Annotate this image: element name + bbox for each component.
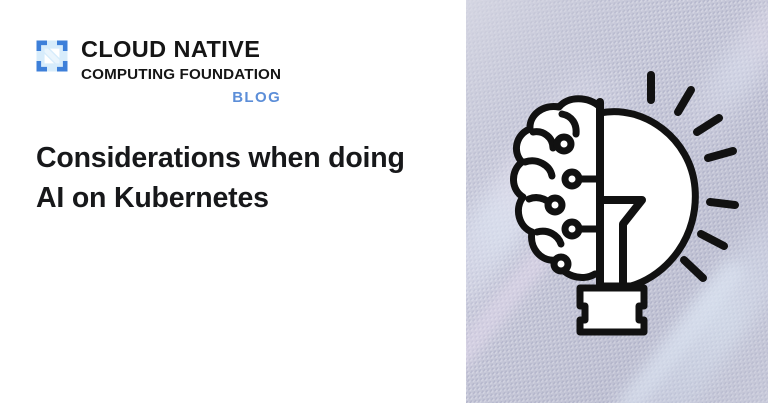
brand-line-computing-foundation: COMPUTING FOUNDATION xyxy=(81,67,281,82)
article-headline: Considerations when doing AI on Kubernet… xyxy=(36,138,436,219)
cncf-hexagon-mark-icon xyxy=(34,38,70,74)
brand-line-cloud-native: CLOUD NATIVE xyxy=(81,38,260,62)
cncf-blog-brand-lockup[interactable]: CLOUD NATIVE COMPUTING FOUNDATION BLOG xyxy=(34,38,281,105)
blog-label[interactable]: BLOG xyxy=(232,90,281,105)
hero-image-pane xyxy=(466,0,768,403)
blog-share-card: CLOUD NATIVE COMPUTING FOUNDATION BLOG C… xyxy=(0,0,768,403)
text-pane: CLOUD NATIVE COMPUTING FOUNDATION BLOG C… xyxy=(0,0,466,403)
brain-half xyxy=(513,98,600,277)
brand-wordmark: CLOUD NATIVE COMPUTING FOUNDATION BLOG xyxy=(81,38,281,105)
bulb-base xyxy=(580,288,644,332)
brain-lightbulb-icon xyxy=(492,66,742,338)
